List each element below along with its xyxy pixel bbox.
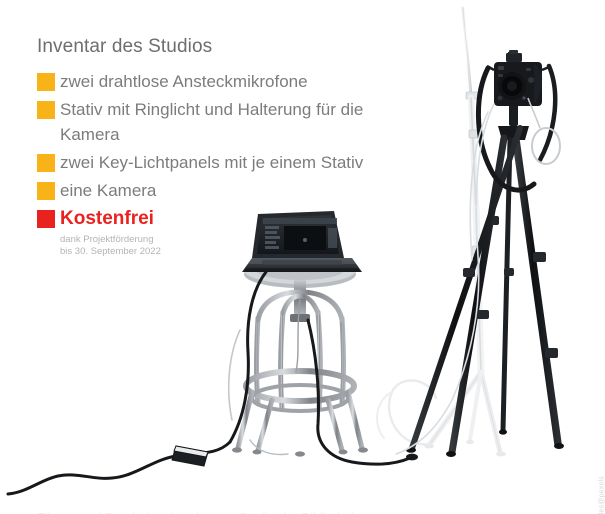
ringlight-stand-graphic (377, 8, 506, 456)
page-title: Inventar des Studios (37, 36, 367, 58)
orange-square-bullet-icon (37, 73, 55, 91)
orange-square-bullet-icon (37, 101, 55, 119)
list-item-free: Kostenfrei (37, 206, 367, 231)
list-item-label: Stativ mit Ringlicht und Halterung für d… (60, 97, 367, 147)
studio-inventory-card: Inventar des Studios zwei drahtlose Anst… (0, 0, 605, 514)
cables-graphic (396, 104, 494, 454)
camera-tripod-graphic (406, 52, 564, 457)
dslr-camera-graphic (478, 50, 560, 190)
orange-square-bullet-icon (37, 154, 55, 172)
photo-credit: brad.skyles@pexels (598, 476, 605, 514)
red-square-bullet-icon (37, 210, 55, 228)
list-item-label: zwei drahtlose Ansteckmikrofone (60, 69, 308, 94)
fineprint-line-2: bis 30. September 2022 (60, 246, 367, 258)
orange-square-bullet-icon (37, 182, 55, 200)
metal-stool-graphic (232, 256, 368, 457)
inventory-text-column: Inventar des Studios zwei drahtlose Anst… (37, 36, 367, 258)
list-item: eine Kamera (37, 178, 367, 203)
list-item: Stativ mit Ringlicht und Halterung für d… (37, 97, 367, 147)
list-item: zwei drahtlose Ansteckmikrofone (37, 69, 367, 94)
bottom-caption: Filmen und Bearbeiten im eigenen Studio … (37, 510, 358, 514)
cable-graphic (8, 272, 418, 494)
cable-adapter-graphic (172, 446, 208, 466)
fineprint-line-1: dank Projektförderung (60, 234, 367, 246)
list-item: zwei Key-Lichtpanels mit je einem Stativ (37, 150, 367, 175)
list-item-label: eine Kamera (60, 178, 156, 203)
list-item-label: zwei Key-Lichtpanels mit je einem Stativ (60, 150, 363, 175)
fineprint: dank Projektförderung bis 30. September … (60, 234, 367, 258)
free-badge-label: Kostenfrei (60, 206, 154, 231)
